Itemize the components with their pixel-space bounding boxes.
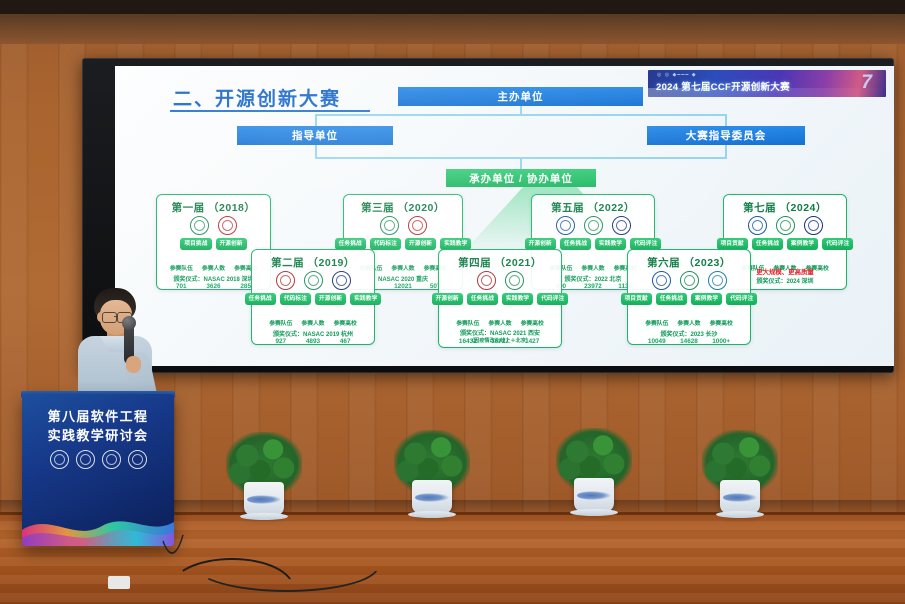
tag-item: 任务挑战 — [245, 293, 276, 305]
stat-label: 参赛人数 — [581, 266, 604, 272]
slide-title: 二、开源创新大赛 — [173, 84, 341, 111]
university-seal-icon — [804, 216, 823, 235]
stat-label: 参赛队伍 — [456, 321, 479, 327]
edition-panel-4: 第四届 （2021） 开源创新 任务挑战 实践教学 代码评注 参赛队伍16432… — [438, 249, 562, 348]
university-seal-icon — [190, 216, 209, 235]
university-seal-icon — [76, 450, 95, 469]
porcelain-pot — [244, 482, 284, 516]
edition-title: 第六届 （2023） — [628, 255, 750, 270]
edition-award: 颁奖仪式：2023 长沙 — [628, 331, 750, 339]
edition-tags: 开源创新 任务挑战 实践教学 代码评注 — [439, 293, 561, 305]
tag-item: 项目贡献 — [621, 293, 652, 305]
tag-item: 代码评注 — [726, 293, 757, 305]
org-box-guidance-label: 指导单位 — [292, 128, 338, 143]
university-seal-icon — [556, 216, 575, 235]
university-seal-icon — [584, 216, 603, 235]
power-adapter — [108, 576, 130, 589]
tag-item: 实践教学 — [595, 238, 626, 250]
tag-item: 开源创新 — [216, 238, 247, 250]
edition-logos — [344, 216, 462, 235]
edition-award-note: （因疫情改为线上＋北京） — [439, 338, 561, 345]
edition-logos — [157, 216, 270, 235]
university-seal-icon — [408, 216, 427, 235]
edition-logos — [724, 216, 846, 235]
stat-label: 参赛高校 — [710, 321, 733, 327]
competition-banner: ◎ ◎ ◆━━━ ◆ 7 2024 第七届CCF开源创新大赛 — [648, 70, 886, 97]
stat-label: 参赛人数 — [488, 321, 511, 327]
university-seal-icon — [612, 216, 631, 235]
tag-item: 开源创新 — [315, 293, 346, 305]
title-underline — [170, 110, 370, 112]
university-seal-icon — [708, 271, 727, 290]
stat-label: 参赛高校 — [334, 321, 357, 327]
tag-item: 代码评注 — [822, 238, 853, 250]
tag-item: 实践教学 — [350, 293, 381, 305]
stat-label: 参赛队伍 — [170, 266, 193, 272]
university-seal-icon — [680, 271, 699, 290]
tag-item: 案例教学 — [787, 238, 818, 250]
edition-stats: 参赛队伍927 参赛人数4893 参赛高校467 — [252, 312, 374, 348]
tag-item: 案例教学 — [691, 293, 722, 305]
university-seal-icon — [380, 216, 399, 235]
edition-award: 颁奖仪式：NASAC 2021 西安 — [439, 330, 561, 338]
university-seal-icon — [128, 450, 147, 469]
edition-title: 第二届 （2019） — [252, 255, 374, 270]
university-seal-icon — [652, 271, 671, 290]
connector-guidance-down — [315, 114, 317, 126]
edition-award: 颁奖仪式：NASAC 2019 杭州 — [252, 331, 374, 339]
tag-item: 实践教学 — [502, 293, 533, 305]
stat-label: 参赛队伍 — [645, 321, 668, 327]
university-seal-icon — [50, 450, 69, 469]
presentation-slide: 二、开源创新大赛 ◎ ◎ ◆━━━ ◆ 7 2024 第七届CCF开源创新大赛 … — [115, 66, 894, 366]
university-seal-icon — [505, 271, 524, 290]
edition-tags: 项目挑战 开源创新 — [157, 238, 270, 250]
edition-title: 第三届 （2020） — [344, 200, 462, 215]
lectern-wave-graphic — [22, 502, 174, 546]
conference-room-scene: 二、开源创新大赛 ◎ ◎ ◆━━━ ◆ 7 2024 第七届CCF开源创新大赛 … — [0, 0, 905, 604]
ceiling-edge — [0, 0, 905, 14]
wave-svg — [22, 502, 174, 546]
org-box-committee-label: 大赛指导委员会 — [686, 128, 767, 143]
university-seal-icon — [102, 450, 121, 469]
university-seal-icon — [776, 216, 795, 235]
edition-tags: 任务挑战 代码标注 开源创新 实践教学 — [252, 293, 374, 305]
porcelain-pot — [720, 480, 760, 514]
edition-title: 第四届 （2021） — [439, 255, 561, 270]
university-seal-icon — [477, 271, 496, 290]
banner-text: 2024 第七届CCF开源创新大赛 — [656, 79, 790, 93]
eyeglasses-bridge — [114, 316, 118, 317]
stat-label: 参赛人数 — [202, 266, 225, 272]
speaker-hand — [126, 356, 141, 373]
connector-committee-down — [725, 114, 727, 126]
org-box-host: 主办单位 — [398, 87, 643, 106]
connector-horizontal-1 — [315, 114, 727, 116]
org-box-organizer-label: 承办单位 / 协办单位 — [469, 171, 573, 186]
banner-edition-number: 7 — [861, 72, 872, 94]
stat-label: 参赛高校 — [521, 321, 544, 327]
edition-stats: 参赛队伍10049 参赛人数14628 参赛高校1000+ — [628, 312, 750, 348]
org-box-guidance: 指导单位 — [237, 126, 393, 145]
tag-item: 项目挑战 — [180, 238, 211, 250]
edition-title: 第一届 （2018） — [157, 200, 270, 215]
stat-label: 参赛人数 — [391, 266, 414, 272]
banner-logo-row: ◎ ◎ ◆━━━ ◆ — [657, 72, 697, 78]
university-seal-icon — [332, 271, 351, 290]
tag-item: 任务挑战 — [752, 238, 783, 250]
edition-tags: 项目贡献 任务挑战 案例教学 代码评注 — [628, 293, 750, 305]
edition-title: 第五届 （2022） — [532, 200, 654, 215]
connector-organizer-down — [520, 157, 522, 169]
stat-label: 参赛人数 — [677, 321, 700, 327]
tag-item: 代码标注 — [280, 293, 311, 305]
edition-logos — [628, 271, 750, 290]
edition-title: 第七届 （2024） — [724, 200, 846, 215]
porcelain-pot — [574, 478, 614, 512]
edition-panel-2: 第二届 （2019） 任务挑战 代码标注 开源创新 实践教学 参赛队伍927 参… — [251, 249, 375, 345]
tag-item: 代码评注 — [537, 293, 568, 305]
university-seal-icon — [276, 271, 295, 290]
eyeglasses-icon — [102, 312, 117, 323]
edition-panel-6: 第六届 （2023） 项目贡献 任务挑战 案例教学 代码评注 参赛队伍10049… — [627, 249, 751, 345]
edition-logos — [439, 271, 561, 290]
org-box-host-label: 主办单位 — [498, 89, 544, 104]
university-seal-icon — [218, 216, 237, 235]
tag-item: 任务挑战 — [656, 293, 687, 305]
org-box-organizer: 承办单位 / 协办单位 — [446, 169, 596, 187]
stat-label: 参赛队伍 — [269, 321, 292, 327]
stat-label: 参赛人数 — [301, 321, 324, 327]
university-seal-icon — [748, 216, 767, 235]
university-seal-icon — [304, 271, 323, 290]
microphone-head — [122, 316, 136, 330]
tag-item: 开源创新 — [432, 293, 463, 305]
tag-item: 任务挑战 — [467, 293, 498, 305]
edition-logos — [532, 216, 654, 235]
lectern-title-line1: 第八届软件工程 — [22, 406, 174, 425]
porcelain-pot — [412, 480, 452, 514]
org-box-committee: 大赛指导委员会 — [647, 126, 805, 145]
edition-logos — [252, 271, 374, 290]
tag-item: 任务挑战 — [560, 238, 591, 250]
tag-item: 开源创新 — [405, 238, 436, 250]
tag-item: 代码标注 — [370, 238, 401, 250]
